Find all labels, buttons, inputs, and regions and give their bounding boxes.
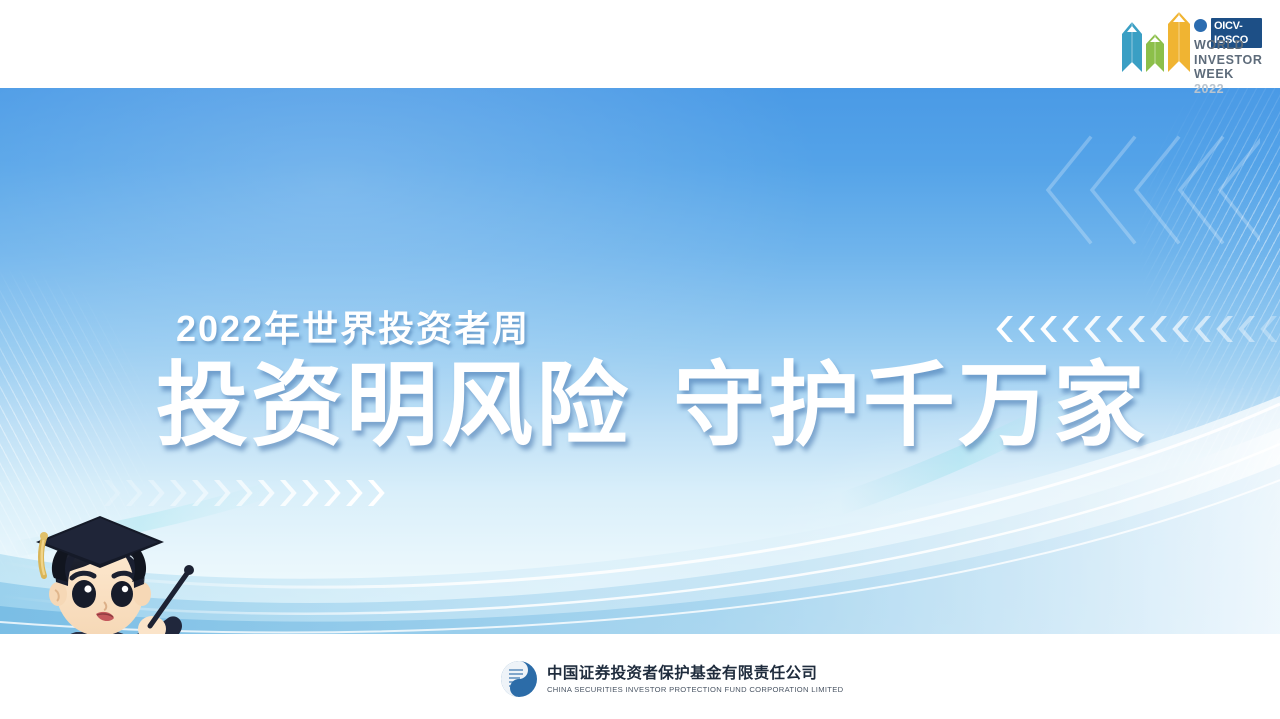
csipf-circle-logo-icon <box>500 660 538 698</box>
footer-bar: 中国证券投资者保护基金有限责任公司 CHINA SECURITIES INVES… <box>0 634 1280 719</box>
chevron-right-icon <box>280 480 299 506</box>
chevron-left-icon <box>1082 316 1101 342</box>
chevron-left-icon <box>1104 316 1123 342</box>
csipf-text-block: 中国证券投资者保护基金有限责任公司 CHINA SECURITIES INVES… <box>547 664 843 695</box>
csipf-name-cn: 中国证券投资者保护基金有限责任公司 <box>547 664 843 683</box>
chevron-left-icon <box>1214 316 1233 342</box>
chevron-right-icon <box>258 480 277 506</box>
chevron-left-icon <box>994 316 1013 342</box>
chevron-left-icon <box>1148 316 1167 342</box>
world-investor-week-logo: OICV-IOSCO WORLD INVESTOR WEEK 2022 <box>1106 4 1266 84</box>
top-header-bar: OICV-IOSCO WORLD INVESTOR WEEK 2022 <box>0 0 1280 88</box>
chevron-left-icon <box>1016 316 1035 342</box>
csipf-logo-lockup: 中国证券投资者保护基金有限责任公司 CHINA SECURITIES INVES… <box>500 660 843 698</box>
chevron-left-icon <box>1038 316 1057 342</box>
chevron-left-icon <box>1060 316 1079 342</box>
chevron-left-icon <box>1170 316 1189 342</box>
chevron-right-icon <box>214 480 233 506</box>
chevron-right-icon <box>236 480 255 506</box>
world-investor-week-text: WORLD INVESTOR WEEK 2022 <box>1194 38 1266 96</box>
chevron-right-icon <box>302 480 321 506</box>
chevron-left-icon <box>1258 316 1277 342</box>
banner-headline: 投资明风险守护千万家 <box>156 360 1148 452</box>
chevron-right-icon <box>324 480 343 506</box>
chevron-right-icon <box>346 480 365 506</box>
chevron-right-icon <box>368 480 387 506</box>
headline-part-1: 投资明风险 <box>156 355 631 457</box>
wiw-line-investor: INVESTOR <box>1194 53 1266 68</box>
csipf-name-en: CHINA SECURITIES INVESTOR PROTECTION FUN… <box>547 684 843 695</box>
ghost-chevron-pattern-icon <box>1030 118 1260 298</box>
globe-icon <box>1194 19 1207 32</box>
wiw-week-label: WEEK <box>1194 67 1234 81</box>
wiw-year: 2022 <box>1194 82 1224 96</box>
chevron-strip-right <box>994 316 1280 342</box>
chevron-left-icon <box>1126 316 1145 342</box>
chevron-left-icon <box>1236 316 1255 342</box>
wiw-line-week-year: WEEK 2022 <box>1194 67 1266 96</box>
wiw-line-world: WORLD <box>1194 38 1266 53</box>
oicv-iosco-mark: OICV-IOSCO <box>1194 18 1262 34</box>
chevron-left-icon <box>1192 316 1211 342</box>
headline-part-2: 守护千万家 <box>673 355 1148 457</box>
three-pencils-icon <box>1116 10 1196 82</box>
banner-eyebrow: 2022年世界投资者周 <box>176 300 530 352</box>
poster-canvas: 2022年世界投资者周 投资明风险守护千万家 <box>0 0 1280 719</box>
